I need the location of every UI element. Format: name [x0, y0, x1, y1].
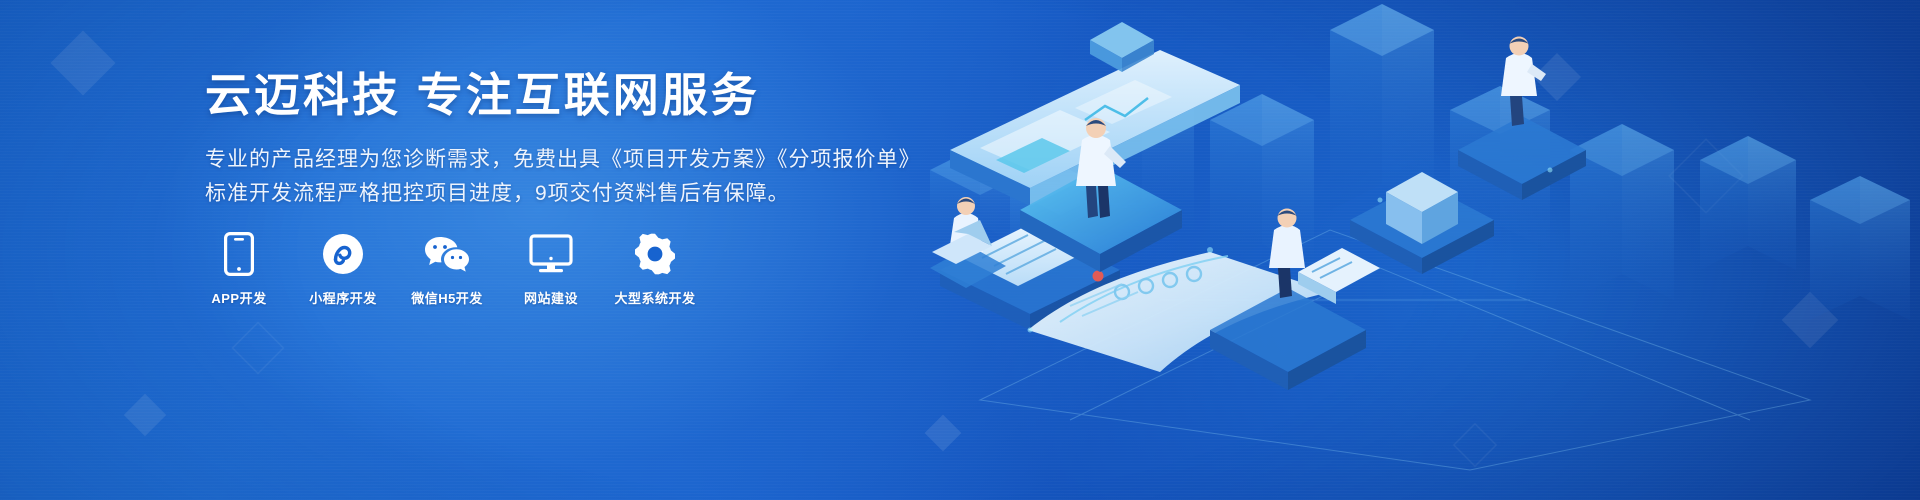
mobile-phone-icon: [224, 232, 254, 276]
monitor-icon: [529, 232, 573, 276]
service-label: 小程序开发: [309, 288, 377, 307]
service-item-large-system[interactable]: 大型系统开发: [621, 232, 689, 307]
subtitle-line-2: 标准开发流程严格把控项目进度，9项交付资料售后有保障。: [205, 177, 925, 211]
banner-copy: 云迈科技 专注互联网服务 专业的产品经理为您诊断需求，免费出具《项目开发方案》《…: [205, 68, 925, 211]
mini-program-icon: [322, 232, 364, 276]
gear-icon: [634, 232, 676, 276]
service-item-wechat-h5[interactable]: 微信H5开发: [413, 232, 481, 307]
service-item-website[interactable]: 网站建设: [517, 232, 585, 307]
service-label: 微信H5开发: [411, 288, 483, 307]
isometric-tech-city-illustration: [910, 0, 1920, 500]
service-label: 网站建设: [524, 288, 578, 307]
service-item-app[interactable]: APP开发: [205, 232, 273, 307]
hero-banner: 云迈科技 专注互联网服务 专业的产品经理为您诊断需求，免费出具《项目开发方案》《…: [0, 0, 1920, 500]
service-label: 大型系统开发: [615, 288, 696, 307]
service-list: APP开发 小程序开发: [205, 232, 689, 307]
service-item-mini-program[interactable]: 小程序开发: [309, 232, 377, 307]
service-label: APP开发: [211, 288, 266, 307]
page-title: 云迈科技 专注互联网服务: [205, 68, 925, 123]
subtitle-line-1: 专业的产品经理为您诊断需求，免费出具《项目开发方案》《分项报价单》: [205, 143, 925, 177]
wechat-icon: [423, 232, 471, 276]
banner-subtitle: 专业的产品经理为您诊断需求，免费出具《项目开发方案》《分项报价单》 标准开发流程…: [205, 143, 925, 211]
